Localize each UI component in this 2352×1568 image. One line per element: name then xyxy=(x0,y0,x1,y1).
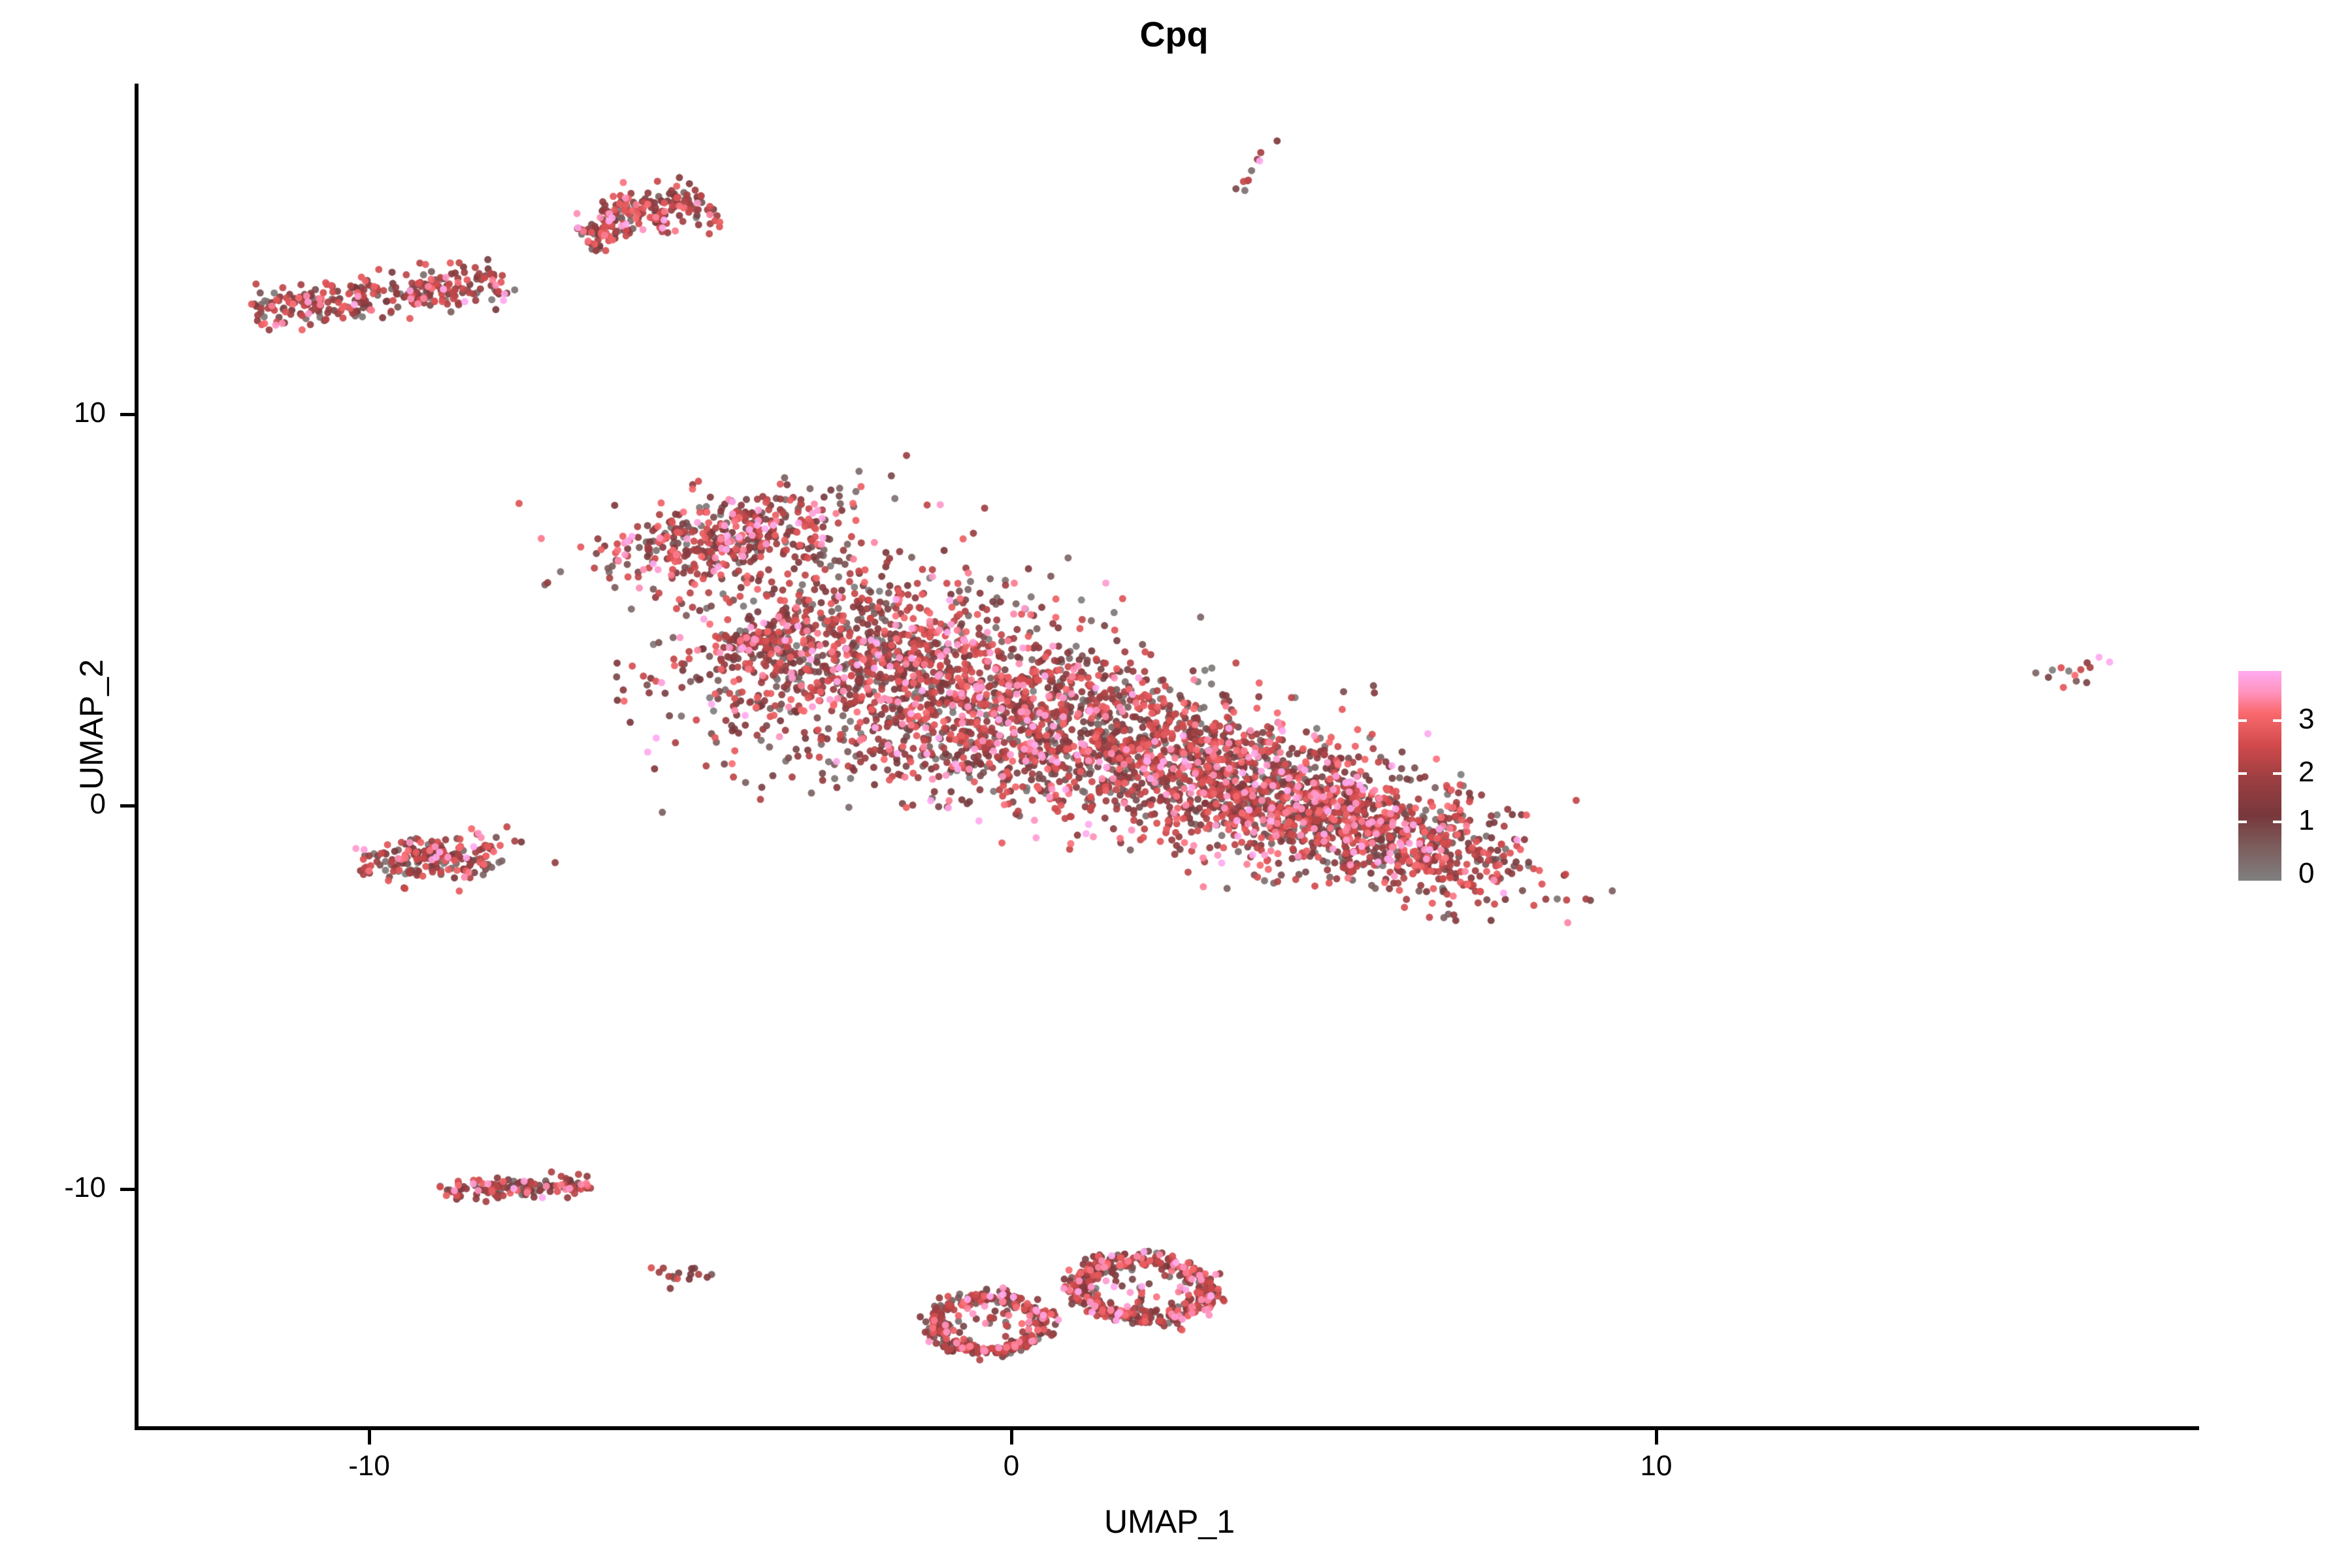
y-tick-neg10 xyxy=(120,1188,135,1191)
colorbar-tick-2-left xyxy=(2238,772,2247,775)
figure-root: Cpq 10 0 -10 -10 0 10 UMAP_2 UMAP_1 3 2 … xyxy=(0,0,2352,1568)
x-tick-0 xyxy=(1010,1430,1013,1445)
colorbar-tick-3-left xyxy=(2238,719,2247,722)
x-tick-label-0: 0 xyxy=(926,1452,1096,1480)
y-axis-line xyxy=(135,84,139,1428)
y-tick-0 xyxy=(120,804,135,808)
colorbar-label-2: 2 xyxy=(2298,758,2314,787)
scatter-canvas-wrap xyxy=(0,0,2352,1568)
colorbar-label-0: 0 xyxy=(2298,859,2314,888)
y-tick-10 xyxy=(120,413,135,416)
x-tick-10 xyxy=(1655,1430,1658,1445)
x-tick-neg10 xyxy=(368,1430,371,1445)
colorbar-tick-3-right xyxy=(2273,719,2281,722)
x-axis-line xyxy=(135,1426,2199,1430)
colorbar-tick-1-right xyxy=(2273,821,2281,823)
y-axis-title: UMAP_2 xyxy=(73,607,110,842)
scatter-plot-canvas xyxy=(0,0,2352,1568)
colorbar-gradient xyxy=(2238,671,2281,881)
y-tick-label-10: 10 xyxy=(0,399,106,427)
colorbar-tick-1-left xyxy=(2238,821,2247,823)
x-axis-title: UMAP_1 xyxy=(1085,1503,1254,1541)
colorbar-label-3: 3 xyxy=(2298,705,2314,734)
y-tick-label-neg10: -10 xyxy=(0,1173,106,1202)
colorbar-label-1: 1 xyxy=(2298,806,2314,835)
colorbar-tick-2-right xyxy=(2273,772,2281,775)
colorbar-legend: 3 2 1 0 xyxy=(2238,671,2343,887)
x-tick-label-10: 10 xyxy=(1571,1452,1741,1480)
x-tick-label-neg10: -10 xyxy=(284,1452,454,1480)
